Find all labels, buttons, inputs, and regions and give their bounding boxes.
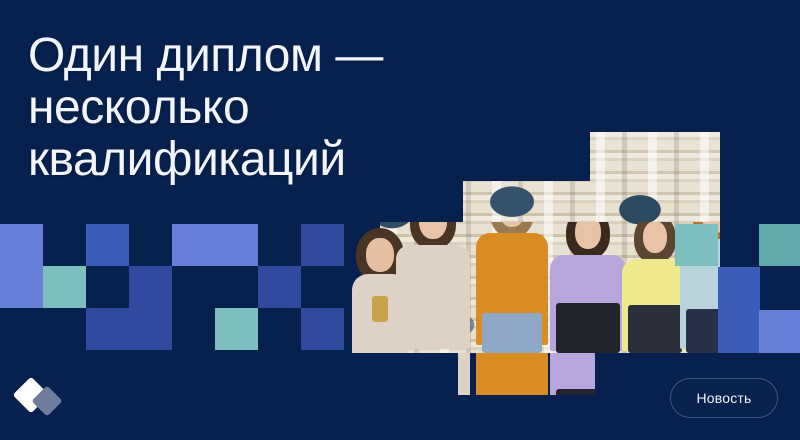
photo-block-main <box>380 222 720 353</box>
student-3 <box>550 222 626 353</box>
mosaic-cell <box>0 224 43 266</box>
photo-block-top <box>590 132 720 181</box>
students-group-lower <box>458 353 595 395</box>
student-3 <box>550 353 595 395</box>
mosaic-cell <box>43 266 86 308</box>
student-2 <box>476 353 548 395</box>
page-title: Один диплом — несколько квалификаций <box>28 30 498 185</box>
decorative-mosaic <box>0 224 344 353</box>
face <box>643 222 667 253</box>
clothing-bottom <box>628 305 682 353</box>
photo-block-bottom <box>458 353 595 395</box>
building-facade-texture <box>590 132 720 181</box>
mosaic-cell <box>86 308 129 350</box>
students-group <box>380 222 720 353</box>
accent-blue-light <box>759 310 800 353</box>
clothing-bottom <box>482 313 542 353</box>
accent-teal-right <box>759 224 800 266</box>
clothing-top <box>396 245 470 349</box>
mosaic-cell <box>86 224 129 266</box>
clothing-bottom <box>686 309 720 353</box>
photo-block-middle <box>463 181 720 222</box>
clothing-top <box>476 353 548 395</box>
mosaic-cell <box>215 308 258 350</box>
accent-teal-left <box>675 224 718 266</box>
mosaic-cell <box>172 224 215 266</box>
promo-banner: Один диплом — несколько квалификаций Нов… <box>0 0 800 440</box>
building-facade-texture <box>463 181 720 222</box>
status-badge[interactable]: Новость <box>670 378 778 418</box>
clothing-top <box>458 353 470 395</box>
student-1 <box>458 353 470 395</box>
accent-blue-mid <box>718 267 760 353</box>
mosaic-cell <box>0 266 43 308</box>
status-badge-label: Новость <box>696 390 751 406</box>
clothing-bottom <box>556 389 595 395</box>
mosaic-cell <box>215 224 258 266</box>
mosaic-cell <box>258 266 301 308</box>
student-2 <box>476 222 548 353</box>
mosaic-cell <box>129 308 172 350</box>
diamond-logo[interactable] <box>16 374 72 424</box>
student-1 <box>396 222 470 353</box>
clothing-bottom <box>556 303 620 353</box>
mosaic-cell <box>129 266 172 308</box>
